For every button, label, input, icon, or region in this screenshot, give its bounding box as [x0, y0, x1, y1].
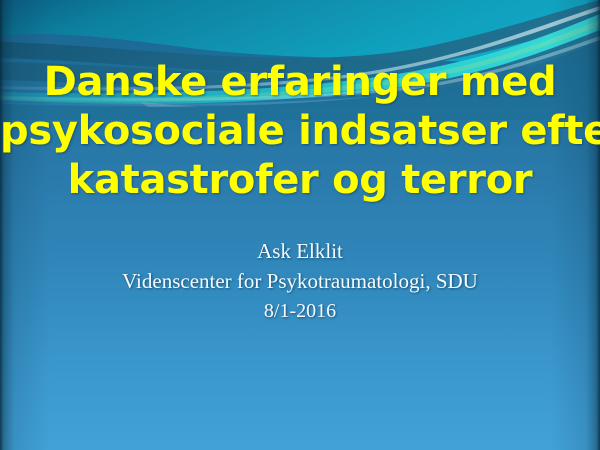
title-line-2: psykosociale indsatser efter: [0, 107, 600, 156]
page-title: Danske erfaringer med psykosociale indsa…: [0, 58, 600, 205]
subtitle-block: Ask Elklit Videnscenter for Psykotraumat…: [0, 236, 600, 326]
author-name: Ask Elklit: [0, 236, 600, 266]
presentation-date: 8/1-2016: [0, 296, 600, 326]
affiliation: Videnscenter for Psykotraumatologi, SDU: [0, 266, 600, 296]
title-line-1: Danske erfaringer med: [0, 58, 600, 107]
title-line-3: katastrofer og terror: [0, 156, 600, 205]
title-slide: Danske erfaringer med psykosociale indsa…: [0, 0, 600, 450]
